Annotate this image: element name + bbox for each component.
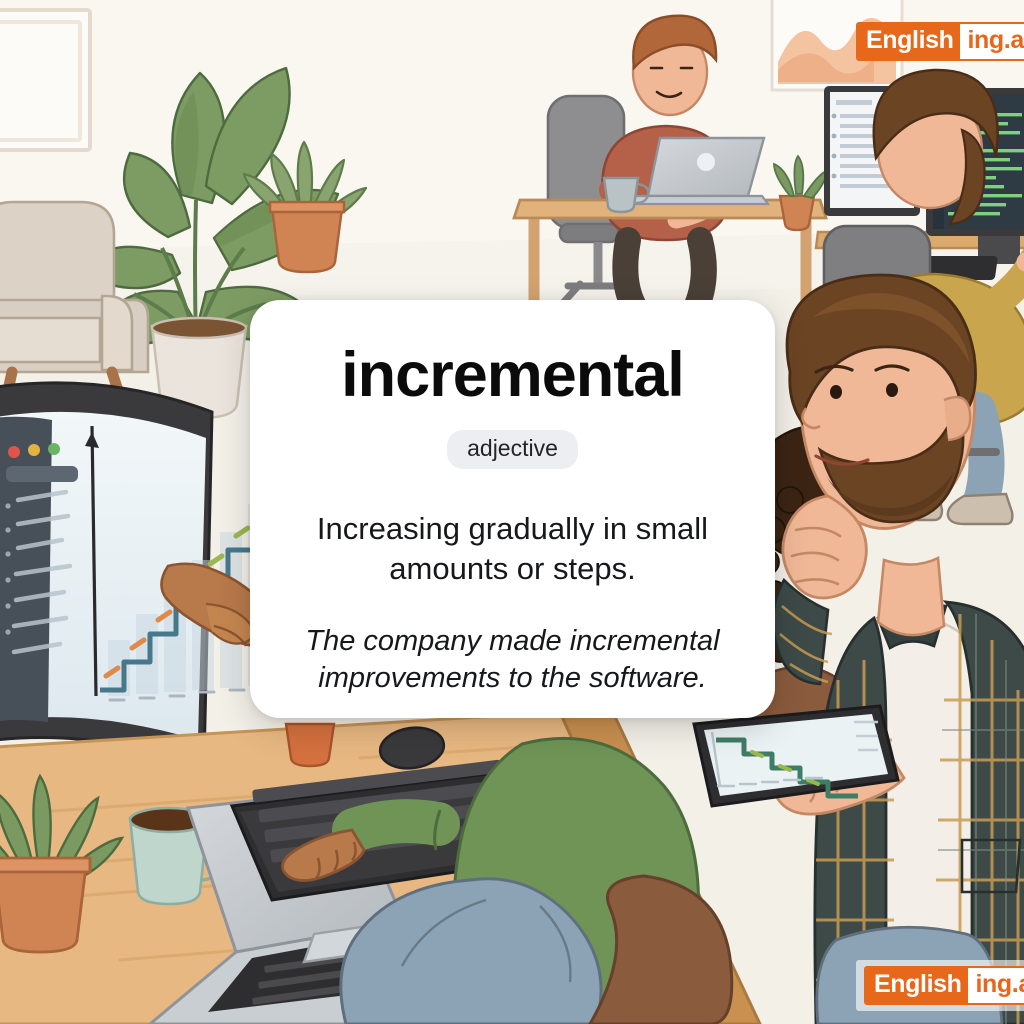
example-sentence: The company made incremental improvement… bbox=[284, 623, 741, 698]
logo-watermark-top[interactable]: English ing.app bbox=[856, 22, 1024, 61]
definition-card: incremental adjective Increasing gradual… bbox=[250, 300, 775, 718]
part-of-speech-badge: adjective bbox=[447, 430, 578, 469]
scene-canvas: incremental adjective Increasing gradual… bbox=[0, 0, 1024, 1024]
logo-box: English ing.app bbox=[856, 22, 1024, 61]
logo-box: English ing.app bbox=[864, 966, 1024, 1005]
logo-text-primary: English bbox=[858, 24, 960, 59]
window-frame bbox=[0, 10, 90, 150]
logo-watermark-bottom[interactable]: English ing.app bbox=[856, 960, 1024, 1011]
logo-text-secondary: ing.app bbox=[960, 24, 1024, 59]
orange-cup bbox=[286, 724, 334, 766]
definition-text: Increasing gradually in small amounts or… bbox=[293, 509, 733, 588]
word-title: incremental bbox=[341, 342, 684, 408]
logo-text-secondary: ing.app bbox=[968, 968, 1024, 1003]
terracotta-pot-back bbox=[272, 208, 342, 272]
logo-text-primary: English bbox=[866, 968, 968, 1003]
